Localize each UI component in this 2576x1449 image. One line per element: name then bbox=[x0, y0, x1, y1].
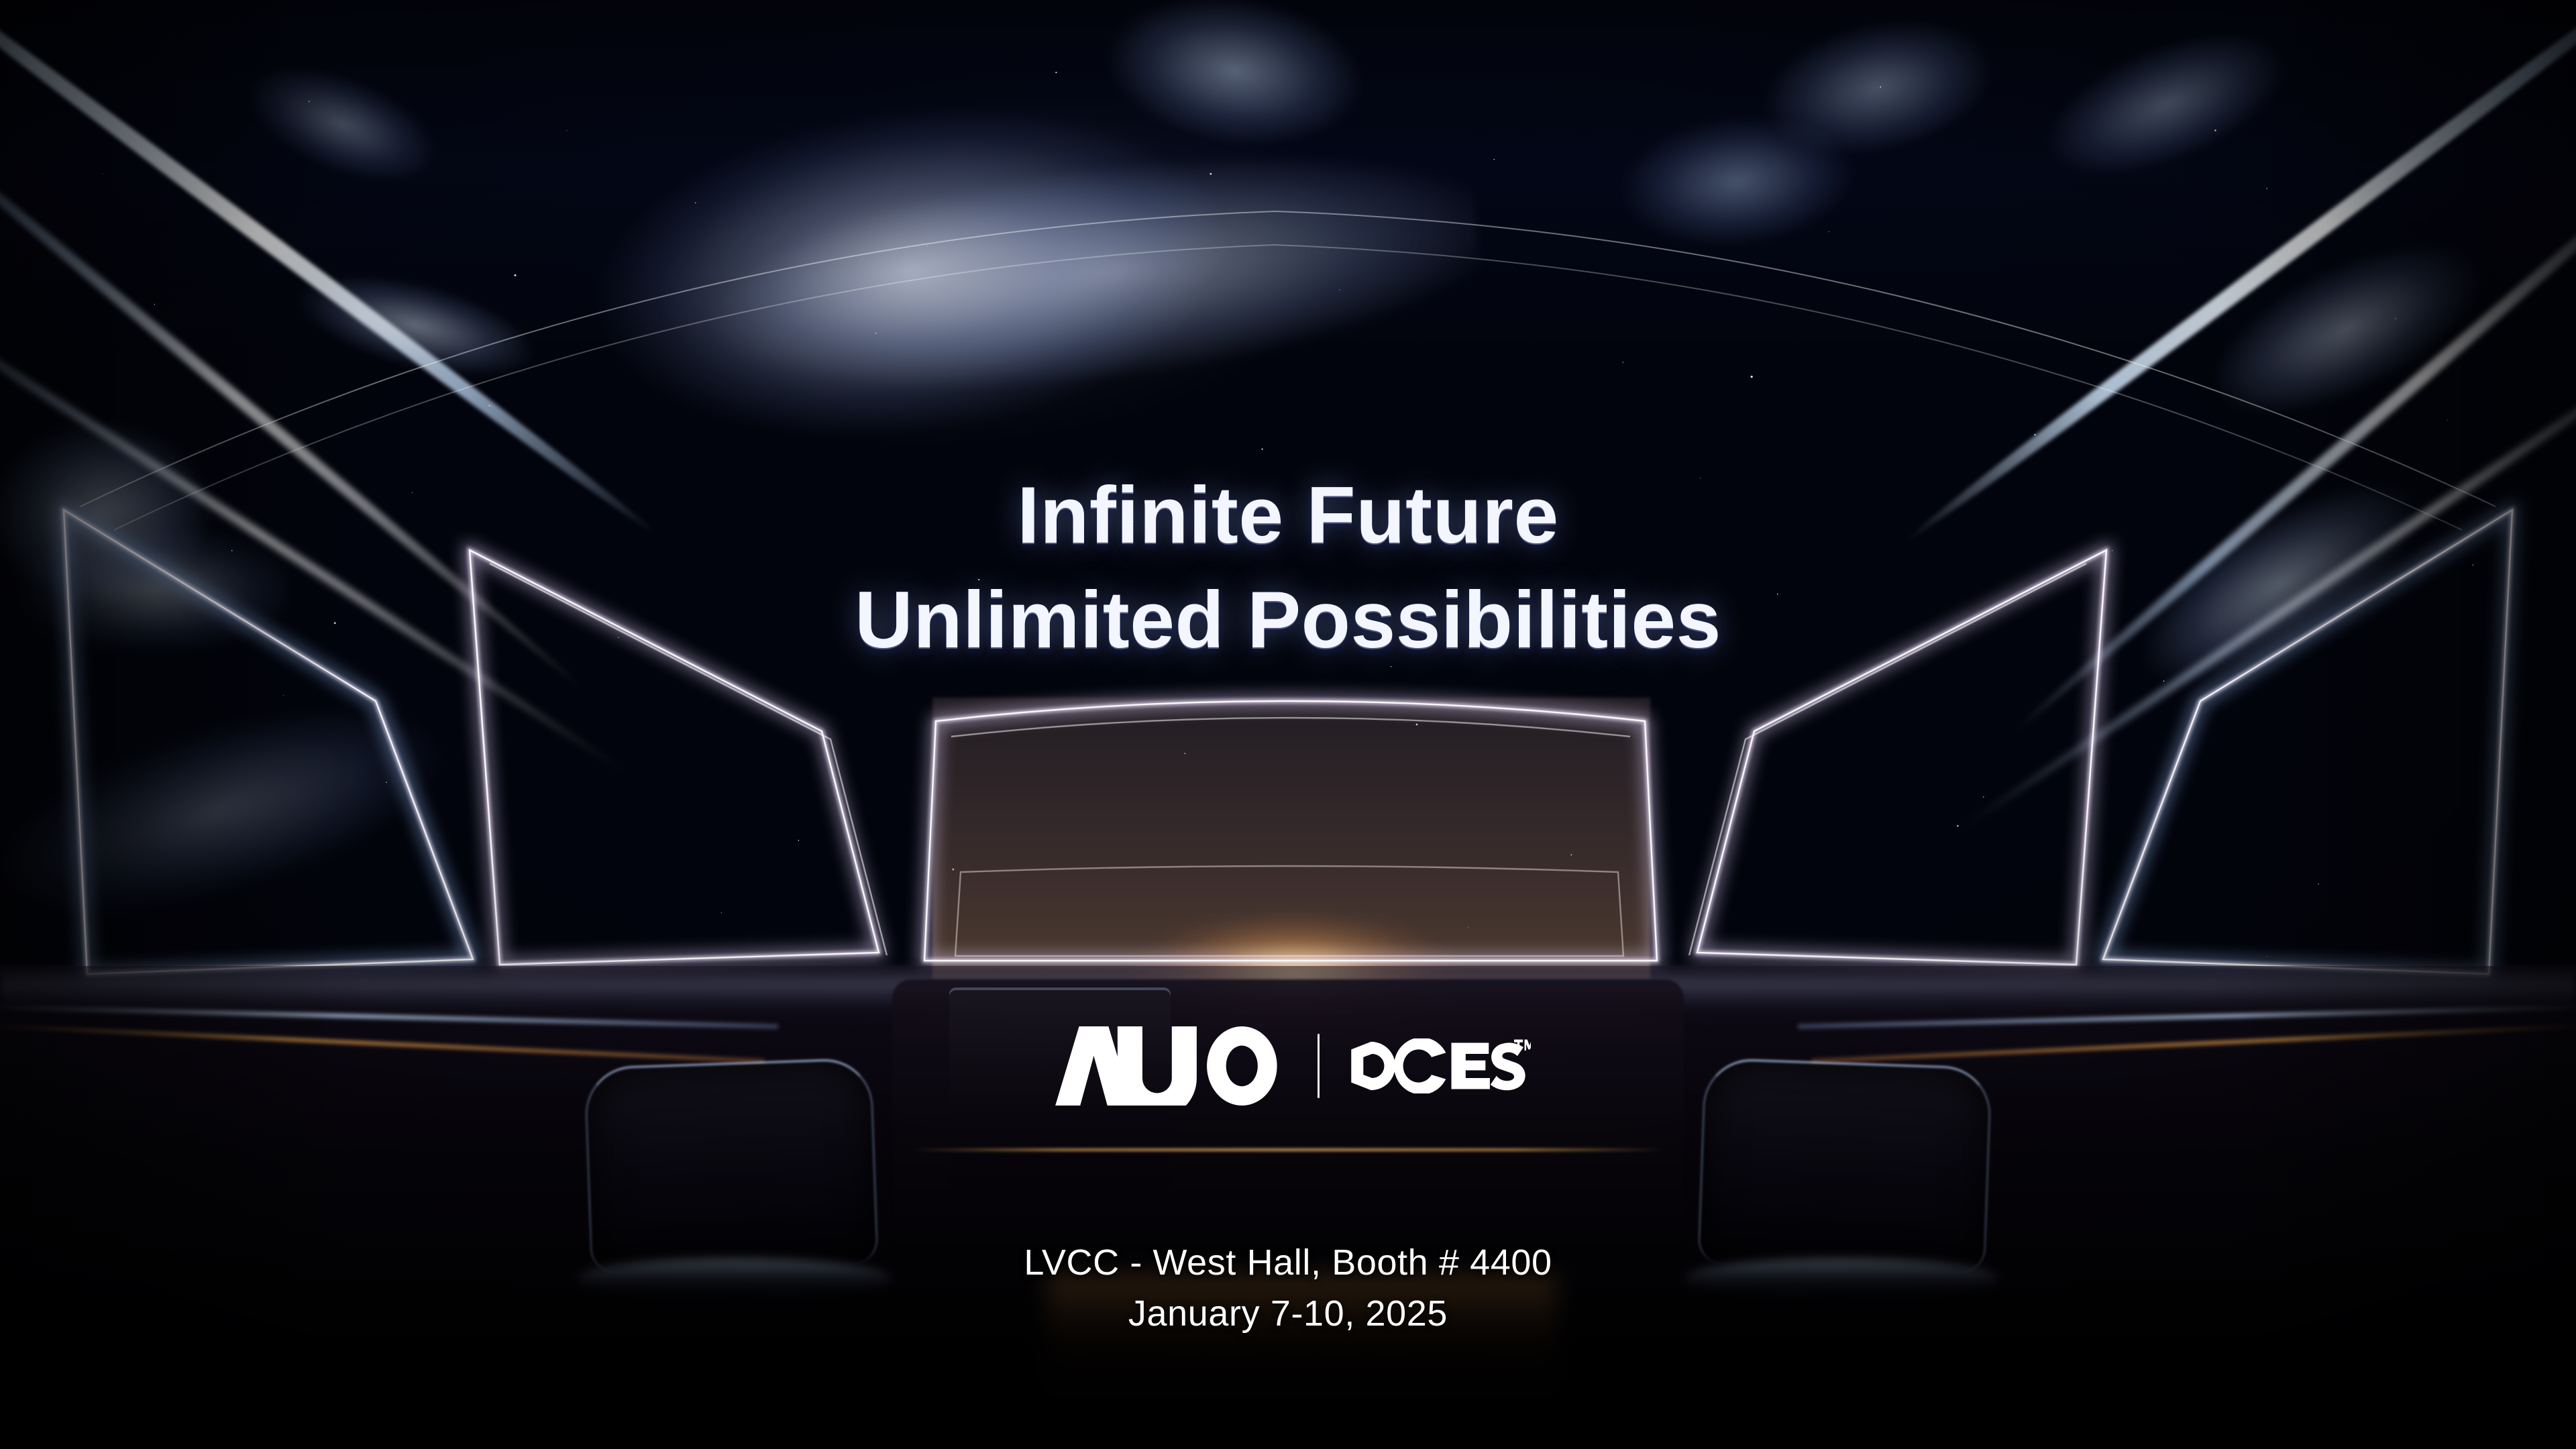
headline-block: Infinite Future Unlimited Possibilities bbox=[0, 463, 2576, 672]
brand-separator bbox=[1318, 1034, 1320, 1098]
event-info-block: LVCC - West Hall, Booth # 4400 January 7… bbox=[0, 1238, 2576, 1339]
event-venue: LVCC - West Hall, Booth # 4400 bbox=[0, 1238, 2576, 1289]
auo-logo bbox=[1045, 1026, 1288, 1106]
console-amber-lip bbox=[912, 1148, 1664, 1151]
headline-line-2: Unlimited Possibilities bbox=[0, 568, 2576, 672]
event-dates: January 7-10, 2025 bbox=[0, 1289, 2576, 1340]
promo-banner: Infinite Future Unlimited Possibilities bbox=[0, 0, 2576, 1449]
headline-line-1: Infinite Future bbox=[0, 463, 2576, 568]
ces-logo bbox=[1349, 1038, 1531, 1093]
brand-lockup bbox=[0, 1026, 2576, 1106]
